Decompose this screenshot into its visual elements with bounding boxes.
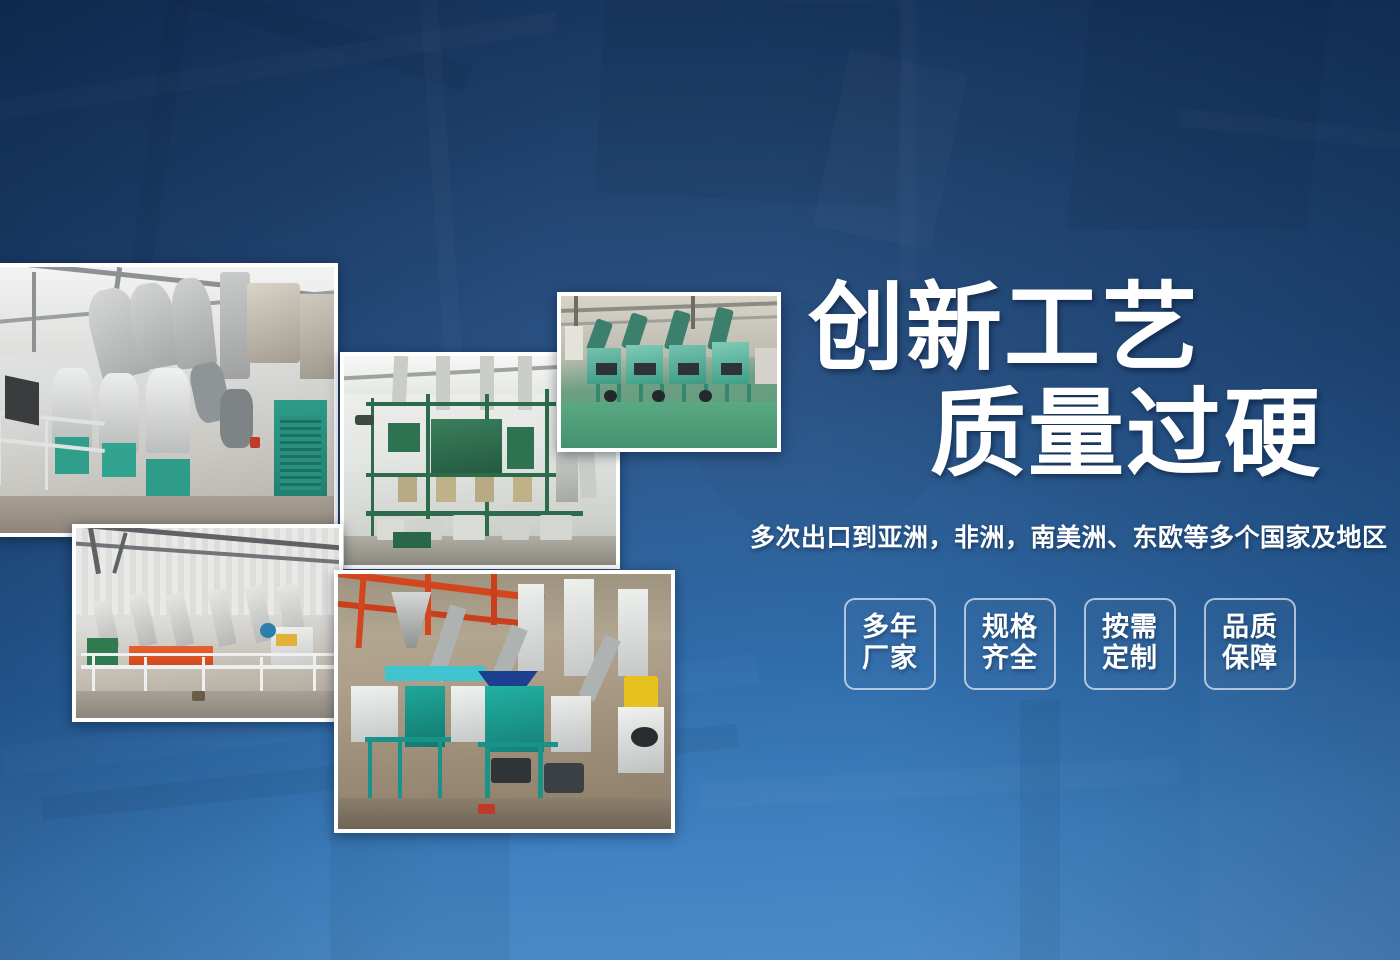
promo-banner: 创新工艺 质量过硬 多次出口到亚洲，非洲，南美洲、东欧等多个国家及地区 多年 厂… [0,0,1400,960]
photo-white-orange-milling-line-warehouse [72,524,343,722]
photo-teal-mill-machines-red-beams [334,570,675,833]
photo-grain-milling-plant-white-cyclones [0,263,338,537]
headline-line-2: 质量过硬 [750,386,1400,484]
badge-line-2: 定制 [1102,644,1158,675]
badge-line-1: 规格 [982,613,1038,644]
badge-line-2: 齐全 [982,644,1038,675]
banner-subtitle: 多次出口到亚洲，非洲，南美洲、东欧等多个国家及地区 [750,518,1400,554]
feature-badge-full-specifications[interactable]: 规格 齐全 [964,598,1056,690]
feature-badge-custom-on-demand[interactable]: 按需 定制 [1084,598,1176,690]
badge-line-1: 品质 [1222,613,1278,644]
photo-teal-mill-machines-green-floor [557,292,781,452]
badge-line-2: 保障 [1222,644,1278,675]
feature-badge-list: 多年 厂家 规格 齐全 按需 定制 品质 保障 [750,598,1400,690]
feature-badge-quality-guarantee[interactable]: 品质 保障 [1204,598,1296,690]
badge-line-1: 多年 [862,613,918,644]
badge-line-1: 按需 [1102,613,1158,644]
headline-line-1: 创新工艺 [750,280,1400,378]
badge-line-2: 厂家 [862,644,918,675]
banner-copy: 创新工艺 质量过硬 多次出口到亚洲，非洲，南美洲、东欧等多个国家及地区 多年 厂… [750,280,1400,690]
feature-badge-years-manufacturer[interactable]: 多年 厂家 [844,598,936,690]
